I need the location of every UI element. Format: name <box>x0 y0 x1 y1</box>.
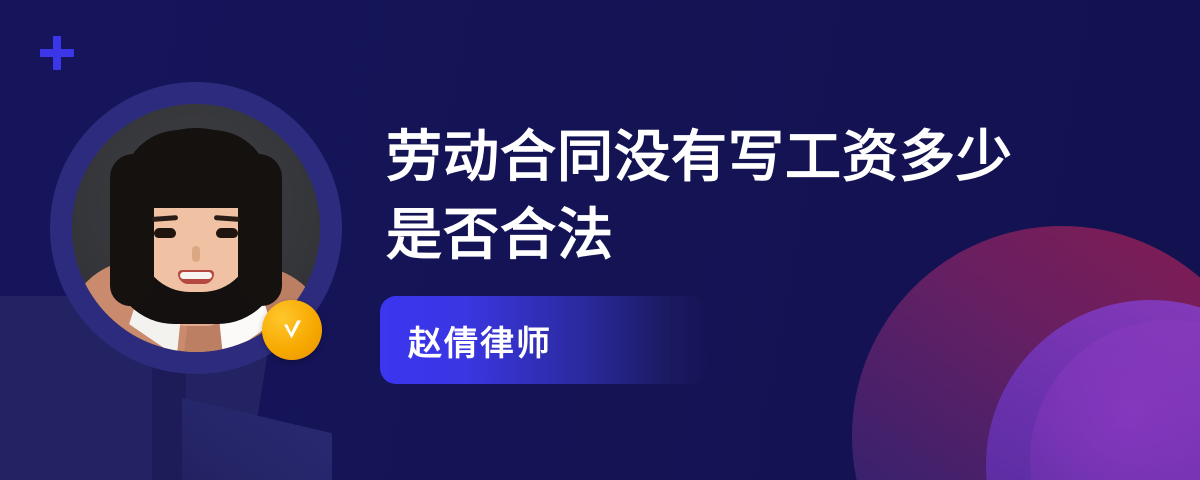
portrait-teeth <box>180 272 212 279</box>
page-title: 劳动合同没有写工资多少 是否合法 <box>386 118 1076 274</box>
portrait-mouth <box>178 270 214 284</box>
verified-check-icon <box>262 300 322 360</box>
author-name-button[interactable]: 赵倩律师 <box>380 296 706 384</box>
portrait-eye-right <box>216 228 238 238</box>
promo-banner: 劳动合同没有写工资多少 是否合法 赵倩律师 <box>0 0 1200 480</box>
plus-icon <box>40 36 74 70</box>
portrait-nose <box>192 246 200 262</box>
portrait-eye-left <box>154 228 176 238</box>
portrait-fringe <box>122 130 270 208</box>
